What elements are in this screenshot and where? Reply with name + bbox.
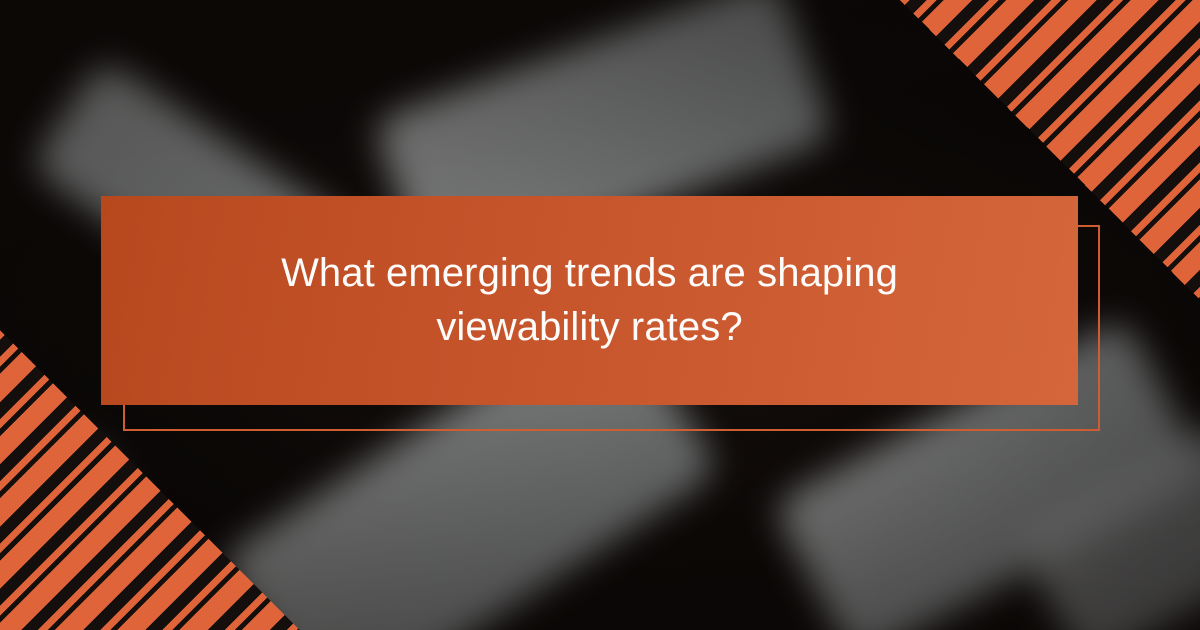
poster-canvas: What emerging trends are shaping viewabi… (0, 0, 1200, 630)
question-text: What emerging trends are shaping viewabi… (240, 247, 940, 353)
question-card: What emerging trends are shaping viewabi… (101, 196, 1078, 405)
